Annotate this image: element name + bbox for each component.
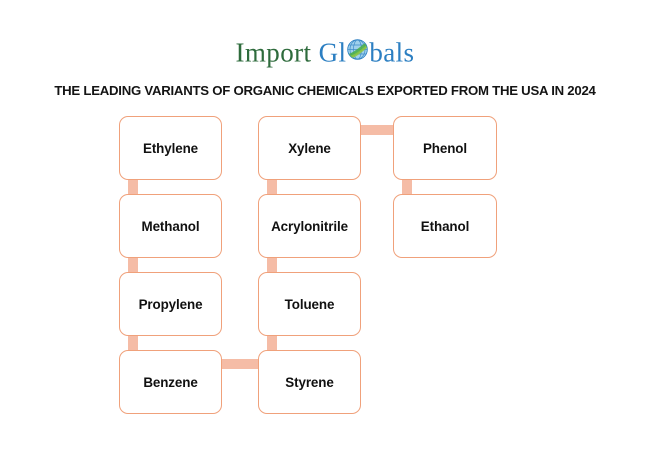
node-label: Ethanol <box>421 219 469 234</box>
node-label: Ethylene <box>143 141 198 156</box>
node-toluene[interactable]: Toluene <box>258 272 361 336</box>
node-styrene[interactable]: Styrene <box>258 350 361 414</box>
node-propylene[interactable]: Propylene <box>119 272 222 336</box>
node-xylene[interactable]: Xylene <box>258 116 361 180</box>
node-label: Phenol <box>423 141 467 156</box>
infographic-page: Import Gl bals <box>0 0 650 450</box>
node-phenol[interactable]: Phenol <box>393 116 497 180</box>
node-ethanol[interactable]: Ethanol <box>393 194 497 258</box>
node-label: Acrylonitrile <box>271 219 348 234</box>
chemicals-flow-diagram: EthyleneMethanolPropyleneBenzeneXyleneAc… <box>0 0 650 450</box>
node-methanol[interactable]: Methanol <box>119 194 222 258</box>
node-label: Styrene <box>285 375 333 390</box>
node-label: Xylene <box>288 141 331 156</box>
node-label: Toluene <box>285 297 335 312</box>
connector-xylene-to-phenol <box>357 125 397 135</box>
node-label: Methanol <box>142 219 200 234</box>
node-acrylonitrile[interactable]: Acrylonitrile <box>258 194 361 258</box>
node-label: Benzene <box>143 375 197 390</box>
node-label: Propylene <box>139 297 203 312</box>
node-benzene[interactable]: Benzene <box>119 350 222 414</box>
connector-benzene-to-styrene <box>218 359 262 369</box>
node-ethylene[interactable]: Ethylene <box>119 116 222 180</box>
